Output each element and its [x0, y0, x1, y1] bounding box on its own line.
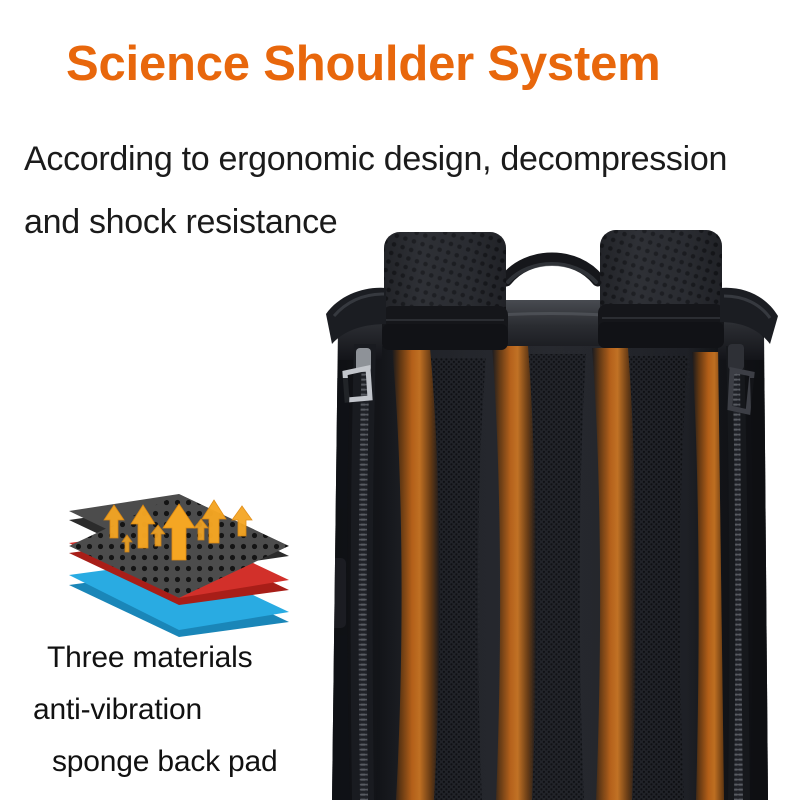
carry-handle: [506, 259, 598, 282]
product-feature-banner: Science Shoulder System According to erg…: [0, 0, 800, 800]
shoulder-strap-pad-right: [598, 230, 724, 348]
backpack-back-panel-photo: [300, 228, 800, 800]
side-trim-left: [327, 378, 350, 800]
caption-line-1: Three materials: [0, 632, 330, 684]
side-trim-right: [750, 378, 770, 800]
caption-line-2: anti-vibration: [0, 684, 330, 736]
feature-caption-block: Three materials anti-vibration sponge ba…: [0, 632, 330, 788]
shoulder-strap-pad-left: [382, 232, 508, 350]
three-layer-cushion-diagram: [62, 442, 297, 637]
backpack-body: [300, 288, 800, 800]
caption-line-3: sponge back pad: [0, 736, 330, 788]
back-panel: [370, 338, 731, 800]
subtitle-line-1: According to ergonomic design, decompres…: [24, 128, 794, 191]
page-title: Science Shoulder System: [66, 36, 766, 92]
